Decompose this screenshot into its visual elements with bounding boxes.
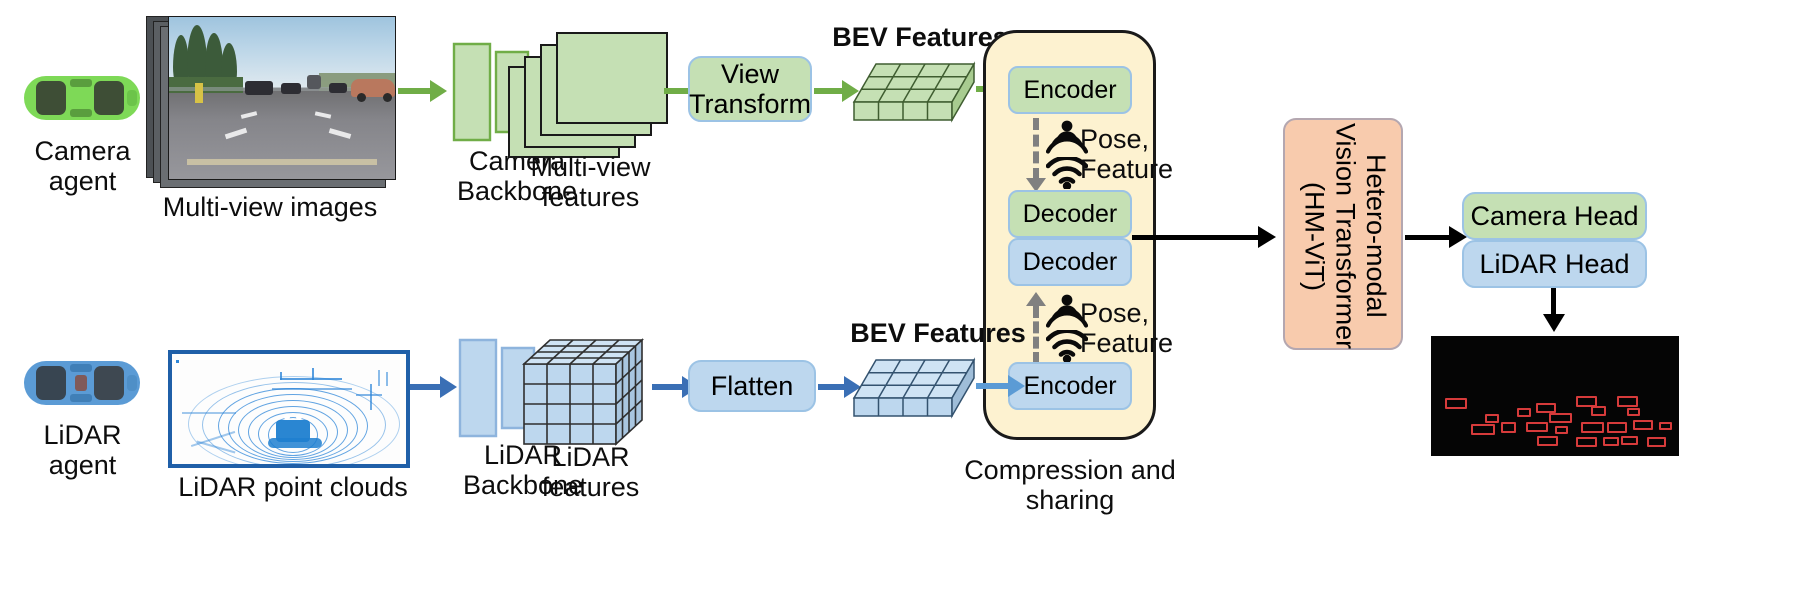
lidar-point-clouds-panel (168, 350, 410, 468)
hm-vit-box[interactable]: Hetero-modal Vision Transformer (HM-ViT) (1283, 118, 1403, 350)
decoder-camera-box[interactable]: Decoder (1008, 190, 1132, 238)
multi-view-features-label: Multi-view features (498, 152, 683, 212)
multi-view-features-stack (508, 32, 668, 154)
encoder-camera-box[interactable]: Encoder (1008, 66, 1132, 114)
lidar-agent-label: LiDAR agent (10, 420, 155, 480)
decoder-lidar-box[interactable]: Decoder (1008, 238, 1132, 286)
camera-agent-label: Camera agent (10, 136, 155, 196)
share-label-top: Pose, Feature (1080, 124, 1200, 184)
hm-vit-label: Hetero-modal Vision Transformer (HM-ViT) (1285, 120, 1405, 352)
view-transform-box[interactable]: View Transform (688, 56, 812, 122)
lidar-agent-icon (22, 355, 142, 411)
lidar-head-box[interactable]: LiDAR Head (1462, 240, 1647, 288)
camera-agent-icon (22, 70, 142, 126)
diagram-canvas: Camera agent (0, 0, 1800, 590)
bev-features-lidar-grid (848, 354, 980, 424)
encoder-lidar-box[interactable]: Encoder (1008, 362, 1132, 410)
flatten-box[interactable]: Flatten (688, 360, 816, 412)
bev-features-camera-grid (848, 58, 980, 128)
lidar-features-voxel-cube (520, 338, 650, 448)
lidar-features-label: LiDAR features (508, 442, 673, 502)
compression-sharing-caption: Compression and sharing (920, 455, 1220, 515)
share-label-bottom: Pose, Feature (1080, 298, 1200, 358)
multi-view-images (146, 16, 398, 188)
detection-output-panel (1431, 336, 1679, 456)
bev-features-lidar-label: BEV Features (838, 318, 1038, 348)
camera-head-box[interactable]: Camera Head (1462, 192, 1647, 240)
